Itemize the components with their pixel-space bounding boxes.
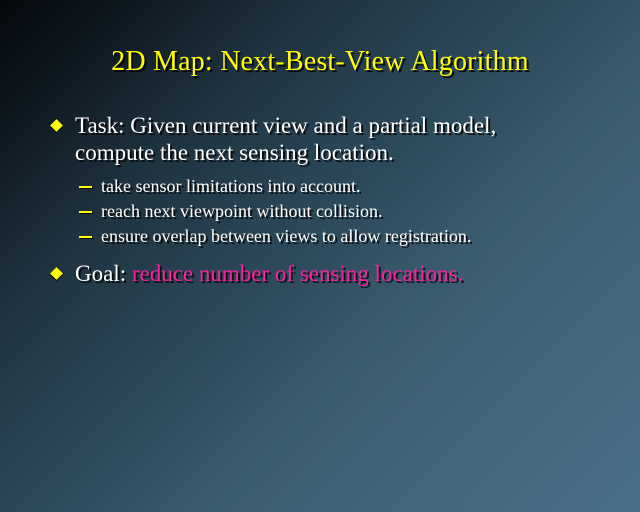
sub-bullet-overlap-registration: ensure overlap between views to allow re… (0, 224, 640, 249)
sub-bullet-overlap-registration-text: ensure overlap between views to allow re… (101, 226, 471, 246)
dash-bullet-icon (79, 211, 92, 213)
dash-bullet-icon (79, 186, 92, 188)
slide-body: Task: Given current view and a partial m… (0, 112, 640, 287)
bullet-item-task-text: Task: Given current view and a partial m… (75, 113, 496, 165)
bullet-item-goal-label: Goal: (75, 261, 132, 286)
sub-bullet-group: take sensor limitations into account. re… (0, 174, 640, 249)
sub-bullet-sensor-limitations: take sensor limitations into account. (0, 174, 640, 199)
bullet-item-goal: Goal: reduce number of sensing locations… (0, 260, 640, 287)
diamond-bullet-icon (50, 267, 63, 280)
sub-bullet-sensor-limitations-text: take sensor limitations into account. (101, 176, 360, 196)
bullet-item-task: Task: Given current view and a partial m… (0, 112, 640, 166)
sub-bullet-collision-free: reach next viewpoint without collision. (0, 199, 640, 224)
bullet-item-goal-accent-text: reduce number of sensing locations. (132, 261, 464, 286)
sub-bullet-collision-free-text: reach next viewpoint without collision. (101, 201, 382, 221)
dash-bullet-icon (79, 236, 92, 238)
presentation-slide: 2D Map: Next-Best-View Algorithm Task: G… (0, 0, 640, 512)
diamond-bullet-icon (50, 119, 63, 132)
slide-title: 2D Map: Next-Best-View Algorithm (0, 45, 640, 79)
